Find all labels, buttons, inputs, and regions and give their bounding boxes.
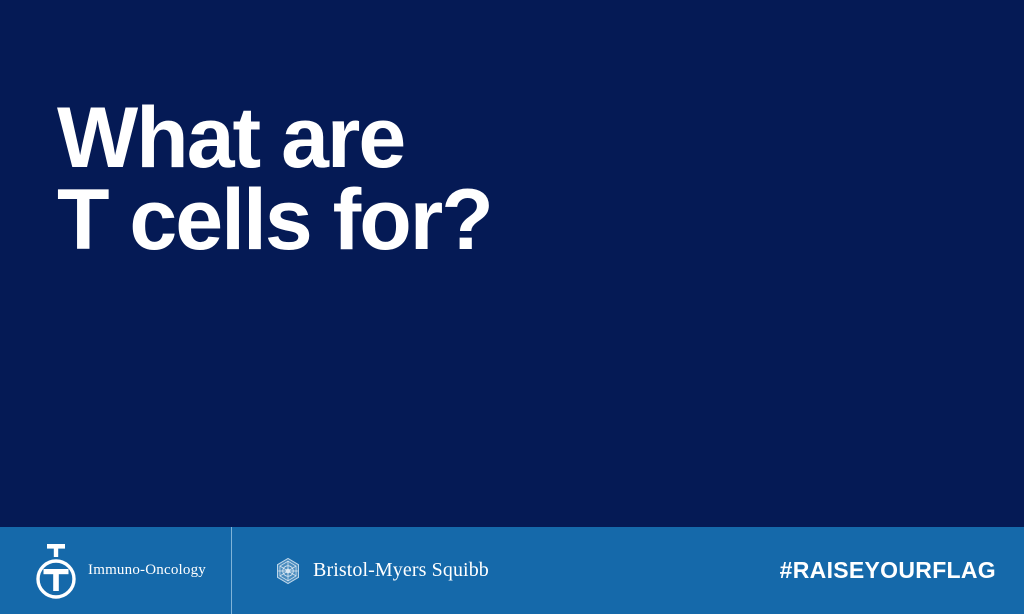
footer-divider [231,527,233,614]
bristol-myers-squibb-brand: Bristol-Myers Squibb [232,557,489,585]
page-title: What are T cells for? [57,98,817,261]
bms-mandala-icon [274,557,302,585]
t-cell-circle-icon [34,542,78,600]
footer-bar: Immuno-Oncology [0,527,1024,614]
immuno-oncology-label: Immuno-Oncology [88,562,206,579]
immuno-oncology-brand: Immuno-Oncology [0,527,232,614]
campaign-hashtag: #RAISEYOURFLAG [780,557,996,584]
bristol-myers-squibb-label: Bristol-Myers Squibb [313,559,489,582]
slide-canvas: What are T cells for? Immuno-Oncology [0,0,1024,614]
campaign-hashtag-group: #RAISEYOURFLAG [780,557,1024,584]
